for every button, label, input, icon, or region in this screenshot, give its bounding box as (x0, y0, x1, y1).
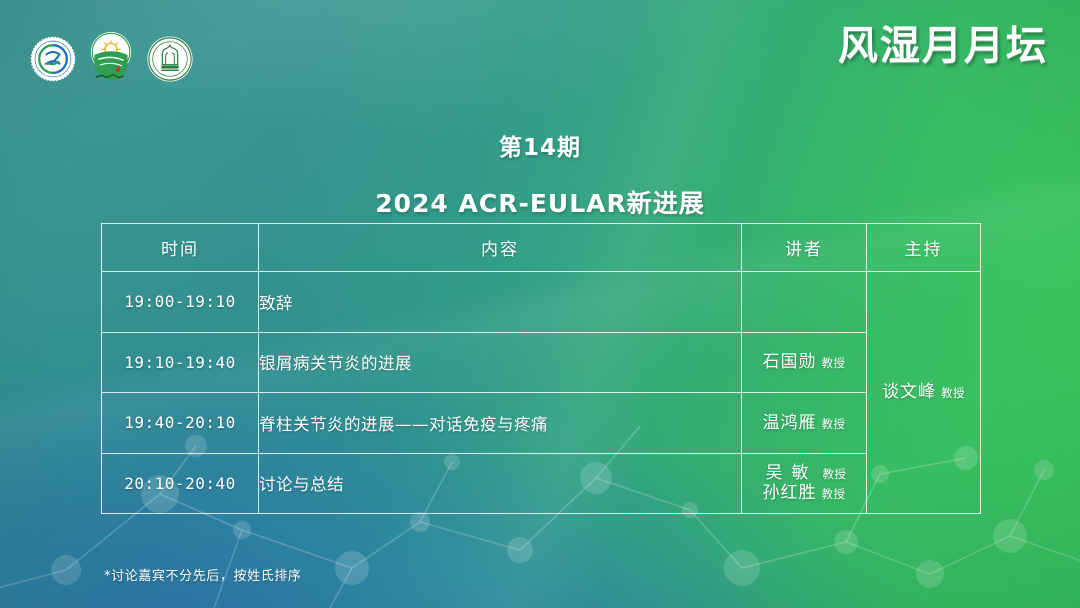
brand-title: 风湿月月坛 (838, 26, 1048, 66)
speaker-name: 吴敏 (762, 463, 818, 483)
cell-time: 19:10-19:40 (102, 332, 259, 393)
column-header-time: 时间 (102, 224, 259, 272)
cell-content: 银屑病关节炎的进展 (259, 332, 742, 393)
host-title: 教授 (941, 386, 965, 400)
hospital-sunrise-logo: ······· (88, 31, 134, 87)
logo-group: ····· ······· ······· (30, 31, 194, 87)
svg-text:·······: ······· (166, 39, 174, 43)
column-header-content: 内容 (259, 224, 742, 272)
speaker-entry: 温鸿雁教授 (742, 413, 866, 433)
cell-content: 致辞 (259, 272, 742, 333)
issue-number: 第14期 (0, 128, 1080, 162)
svg-text:·····: ····· (50, 39, 55, 43)
cell-time: 20:10-20:40 (102, 453, 259, 514)
cell-time: 19:00-19:10 (102, 272, 259, 333)
schedule-table: 时间 内容 讲者 主持 19:00-19:10致辞谈文峰教授19:10-19:4… (101, 223, 981, 514)
column-header-speaker: 讲者 (742, 224, 867, 272)
cell-content: 脊柱关节炎的进展——对话免疫与疼痛 (259, 393, 742, 454)
table-row: 19:00-19:10致辞谈文峰教授 (102, 272, 981, 333)
session-topic: 2024 ACR-EULAR新进展 (0, 184, 1080, 220)
subtitle-block: 第14期 2024 ACR-EULAR新进展 (0, 128, 1080, 220)
column-header-host: 主持 (867, 224, 981, 272)
cell-speaker (742, 272, 867, 333)
chinese-medical-association-logo: ····· (30, 36, 76, 82)
cell-host: 谈文峰教授 (867, 272, 981, 514)
host-entry: 谈文峰教授 (867, 382, 980, 402)
cell-speaker: 石国勋教授 (742, 332, 867, 393)
page-header: ····· ······· ······· (0, 0, 1080, 105)
schedule-body: 19:00-19:10致辞谈文峰教授19:10-19:40银屑病关节炎的进展石国… (102, 272, 981, 514)
cell-speaker: 吴敏教授孙红胜教授 (742, 453, 867, 514)
svg-text:·······: ······· (107, 82, 114, 86)
table-row: 20:10-20:40讨论与总结吴敏教授孙红胜教授 (102, 453, 981, 514)
speaker-title: 教授 (822, 356, 846, 370)
speaker-name: 温鸿雁 (763, 413, 817, 433)
speaker-title: 教授 (822, 487, 846, 501)
host-name: 谈文峰 (882, 382, 936, 402)
table-header-row: 时间 内容 讲者 主持 (102, 224, 981, 272)
medical-academy-logo: ······· (146, 35, 194, 83)
speaker-title: 教授 (823, 467, 847, 481)
speaker-entry: 孙红胜教授 (742, 483, 866, 503)
cell-content: 讨论与总结 (259, 453, 742, 514)
speaker-entry: 石国勋教授 (742, 352, 866, 372)
cell-speaker: 温鸿雁教授 (742, 393, 867, 454)
speaker-name: 孙红胜 (763, 483, 817, 503)
speaker-name: 石国勋 (763, 352, 817, 372)
footnote: *讨论嘉宾不分先后，按姓氏排序 (104, 565, 302, 584)
cell-time: 19:40-20:10 (102, 393, 259, 454)
table-row: 19:40-20:10脊柱关节炎的进展——对话免疫与疼痛温鸿雁教授 (102, 393, 981, 454)
speaker-entry: 吴敏教授 (742, 463, 866, 483)
table-row: 19:10-19:40银屑病关节炎的进展石国勋教授 (102, 332, 981, 393)
speaker-title: 教授 (822, 417, 846, 431)
